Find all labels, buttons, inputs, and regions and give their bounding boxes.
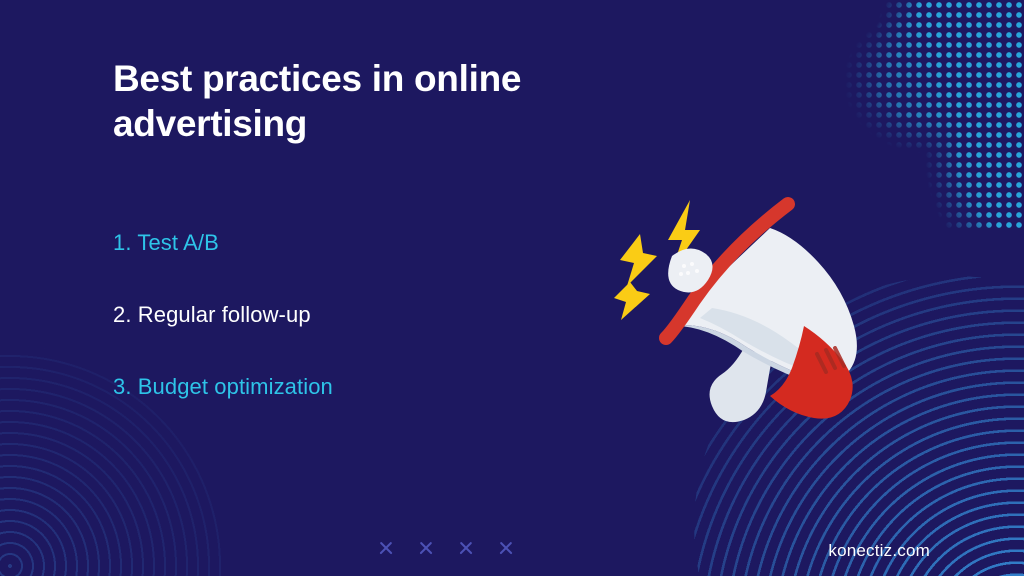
- x-marks-decoration: [378, 540, 514, 556]
- list-item: 3. Budget optimization: [113, 376, 533, 398]
- site-url-label: konectiz.com: [828, 541, 930, 561]
- list-item: 1. Test A/B: [113, 232, 533, 254]
- megaphone-icon: [612, 178, 868, 434]
- x-mark-icon: [498, 540, 514, 556]
- x-mark-icon: [378, 540, 394, 556]
- x-mark-icon: [418, 540, 434, 556]
- slide-title-line-2: advertising: [113, 103, 307, 144]
- best-practices-list: 1. Test A/B 2. Regular follow-up 3. Budg…: [113, 232, 533, 398]
- slide-canvas: Best practices in online advertising 1. …: [0, 0, 1024, 576]
- slide-title-line-1: Best practices in online: [113, 58, 521, 99]
- x-mark-icon: [458, 540, 474, 556]
- list-item: 2. Regular follow-up: [113, 304, 533, 326]
- slide-title: Best practices in online advertising: [113, 56, 633, 146]
